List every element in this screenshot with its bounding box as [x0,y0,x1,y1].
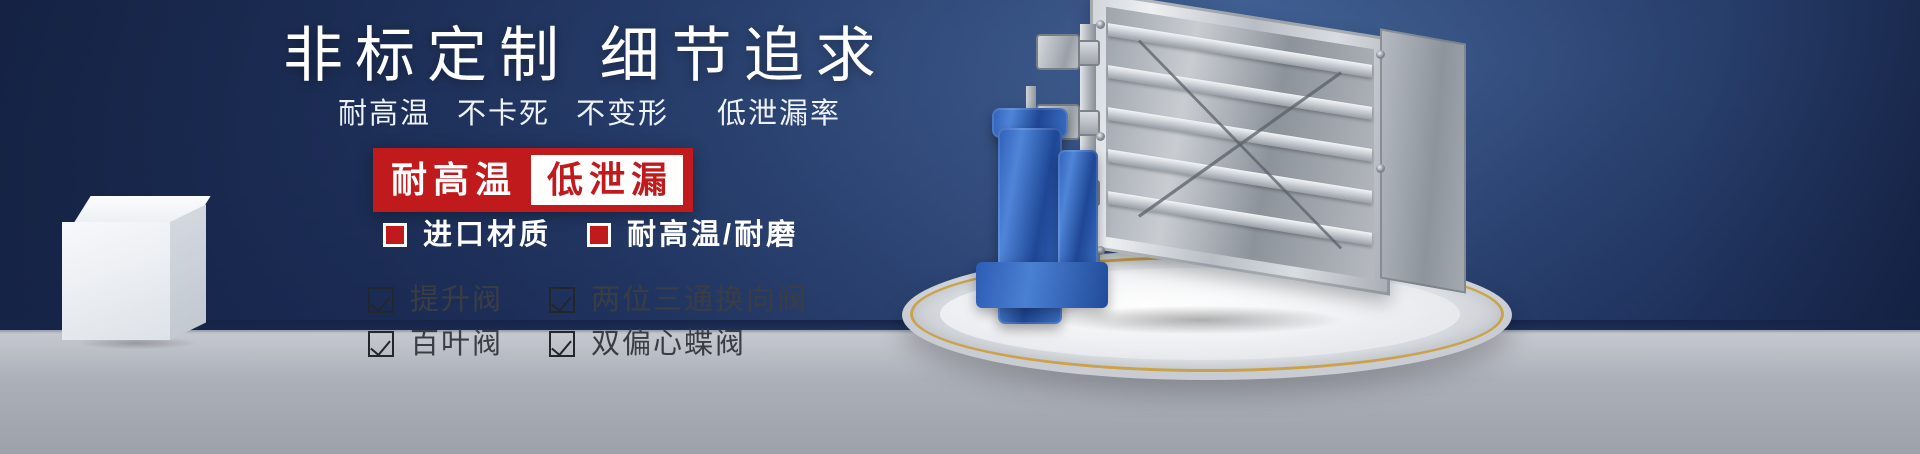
cube-front-face [62,222,170,340]
bullet-label: 耐高温/耐磨 [627,218,798,252]
checklist-label: 百叶阀 [410,327,503,361]
list-item: 提升阀 [368,283,503,317]
subtitle: 耐高温不卡死不变形低泄漏率 [338,95,841,133]
damper-cross-bracing [1106,7,1374,279]
checkbox-checked-icon [368,331,394,357]
checklist-label: 两位三通换向阀 [591,283,808,317]
damper-side-panel [1380,28,1466,293]
valve-manifold-block [976,262,1108,308]
frame-bolt [1096,132,1105,141]
list-item: 两位三通换向阀 [549,283,808,317]
brace-diagonal [1138,71,1342,217]
red-square-bullet-icon [587,223,611,247]
list-item: 百叶阀 [368,327,503,361]
page-title: 非标定制 细节追求 [283,18,888,94]
subtitle-part-1: 耐高温 [338,98,431,130]
product-checklist: 提升阀 两位三通换向阀 百叶阀 双偏心蝶阀 [368,283,808,361]
valve-gearbox [1036,34,1080,70]
red-square-bullet-icon [383,223,407,247]
louver-damper-valve [1090,14,1510,314]
checkbox-checked-icon [549,331,575,357]
checkbox-checked-icon [549,287,575,313]
cube-side-face [170,204,206,340]
status-badge: 耐高温 低泄漏 [373,148,693,212]
subtitle-part-4: 低泄漏率 [717,98,841,130]
badge-right-label: 低泄漏 [531,155,683,205]
badge-left-label: 耐高温 [389,157,531,203]
frame-bolt [1376,50,1385,59]
list-item: 双偏心蝶阀 [549,327,808,361]
product-image [880,0,1920,454]
subtitle-part-3: 不变形 [576,98,669,130]
frame-bolt [1376,164,1385,173]
frame-bolt [1096,20,1105,29]
checklist-label: 双偏心蝶阀 [591,327,746,361]
promotional-banner: 非标定制 细节追求 耐高温不卡死不变形低泄漏率 耐高温 低泄漏 进口材质 耐高温… [0,0,1920,454]
secondary-actuator-cylinder [1058,150,1098,280]
checklist-label: 提升阀 [410,283,503,317]
feature-bullet-list: 进口材质 耐高温/耐磨 [383,218,798,252]
subtitle-part-2: 不卡死 [457,98,550,130]
checkbox-checked-icon [368,287,394,313]
decorative-white-cube [62,196,222,346]
list-item: 耐高温/耐磨 [587,218,798,252]
bullet-label: 进口材质 [423,218,551,252]
damper-frame [1090,0,1390,296]
list-item: 进口材质 [383,218,551,252]
